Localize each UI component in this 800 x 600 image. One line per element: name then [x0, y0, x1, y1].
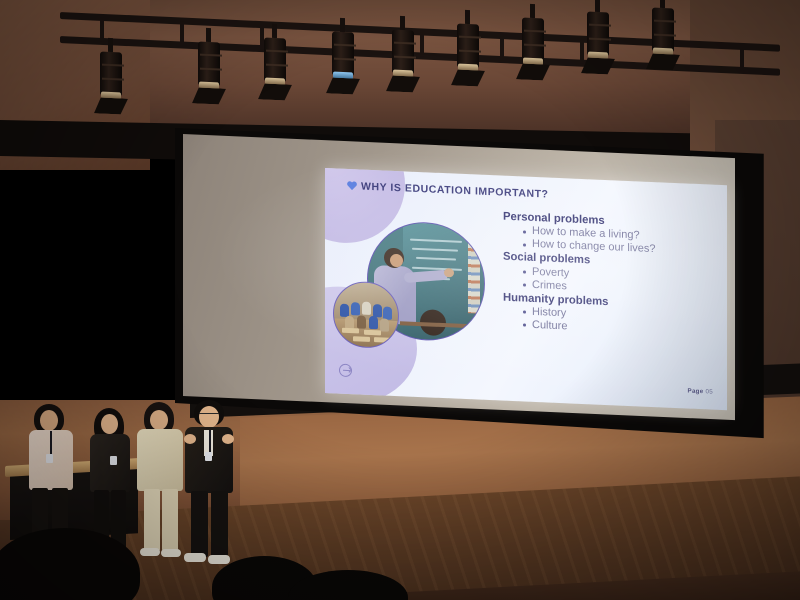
lamp-rib: [200, 68, 222, 71]
stage-light-5: [390, 25, 416, 92]
lamp-rib: [200, 54, 222, 57]
lamp-barndoor: [258, 83, 292, 101]
teacher-hand: [444, 268, 454, 277]
leg: [162, 489, 178, 551]
name-badge: [46, 454, 53, 463]
lamp-body: [652, 8, 674, 53]
lamp-barndoor: [326, 77, 360, 95]
heart-icon: [347, 181, 357, 190]
lamp-yoke: [530, 4, 535, 18]
lamp-rib: [459, 50, 481, 53]
lamp-rib: [654, 34, 676, 37]
lamp-rib: [589, 24, 611, 27]
face: [40, 410, 58, 431]
stage-light-6: [455, 19, 481, 86]
name-badge: [110, 456, 117, 465]
lanyard: [50, 431, 52, 455]
classroom-desk: [353, 336, 370, 342]
student: [357, 315, 366, 328]
classroom-desk: [364, 330, 381, 336]
shoe: [184, 553, 206, 562]
blazer: [137, 429, 183, 491]
truss-brace: [100, 18, 104, 42]
lamp-yoke: [595, 0, 600, 12]
hand-holding-mic: [184, 434, 196, 444]
lamp-yoke: [465, 10, 470, 24]
hand: [222, 434, 234, 444]
lamp-yoke: [272, 24, 277, 38]
truss-brace: [580, 40, 584, 64]
lamp-body: [264, 38, 286, 83]
slide-content: Personal problems How to make a living? …: [503, 210, 711, 340]
auditorium-scene: WHY IS EDUCATION IMPORTANT?: [0, 0, 800, 600]
lamp-rib: [589, 38, 611, 41]
lamp-body: [198, 42, 220, 87]
lamp-rib: [102, 64, 124, 67]
presentation-slide: WHY IS EDUCATION IMPORTANT?: [325, 168, 727, 410]
classroom-desk: [342, 328, 359, 334]
stage-light-3: [262, 33, 288, 100]
name-badge: [205, 452, 212, 461]
lamp-barndoor: [516, 63, 550, 81]
lamp-barndoor: [646, 53, 680, 71]
student: [351, 302, 360, 315]
lamp-barndoor: [94, 97, 128, 115]
lanyard: [209, 430, 211, 452]
glasses-icon: [199, 413, 219, 418]
teacher-face: [390, 254, 403, 268]
arrow-circle-icon: [339, 364, 352, 378]
stage-light-2: [196, 37, 222, 104]
lamp-body: [392, 30, 414, 75]
lamp-rib: [459, 36, 481, 39]
lamp-rib: [654, 20, 676, 23]
lamp-body: [522, 18, 544, 63]
lamp-yoke: [660, 0, 665, 8]
leg: [191, 491, 208, 557]
stage-light-8: [585, 7, 611, 74]
face: [150, 410, 168, 430]
lamp-rib: [266, 64, 288, 67]
lamp-yoke: [400, 16, 405, 30]
student: [369, 316, 378, 329]
shoe: [140, 548, 160, 556]
wall-chart: [468, 243, 480, 314]
lamp-barndoor: [451, 69, 485, 87]
lamp-rib: [394, 42, 416, 45]
lamp-rib: [524, 44, 546, 47]
lamp-rib: [334, 58, 356, 61]
truss-brace: [740, 47, 744, 71]
stage-light-1: [98, 47, 124, 114]
leg: [144, 489, 160, 551]
lamp-rib: [524, 30, 546, 33]
shoe: [161, 549, 181, 557]
page-number-label: Page05: [688, 388, 713, 396]
leg: [211, 491, 228, 557]
truss-brace: [420, 32, 424, 56]
stage-light-4: [330, 27, 356, 94]
lamp-rib: [394, 56, 416, 59]
truss-brace: [500, 36, 504, 60]
lamp-yoke: [206, 28, 211, 42]
lamp-body: [100, 52, 122, 97]
face: [101, 414, 118, 434]
stage-light-9: [650, 3, 676, 70]
lamp-body: [587, 12, 609, 57]
lamp-rib: [334, 44, 356, 47]
lamp-barndoor: [581, 57, 615, 75]
lamp-rib: [102, 78, 124, 81]
lamp-barndoor: [386, 75, 420, 93]
lamp-rib: [266, 50, 288, 53]
lamp-body: [457, 24, 479, 69]
lamp-yoke: [108, 38, 113, 52]
shoe: [208, 555, 230, 564]
page-word: Page: [688, 388, 704, 396]
lamp-body: [332, 32, 354, 77]
presenter-4: [182, 400, 244, 572]
stage-light-7: [520, 13, 546, 80]
classroom-desk: [374, 337, 391, 343]
student: [380, 318, 389, 331]
lamp-barndoor: [192, 87, 226, 105]
student: [362, 302, 371, 315]
truss-brace: [180, 21, 184, 45]
page-value: 05: [706, 388, 713, 395]
lamp-yoke: [340, 18, 345, 32]
